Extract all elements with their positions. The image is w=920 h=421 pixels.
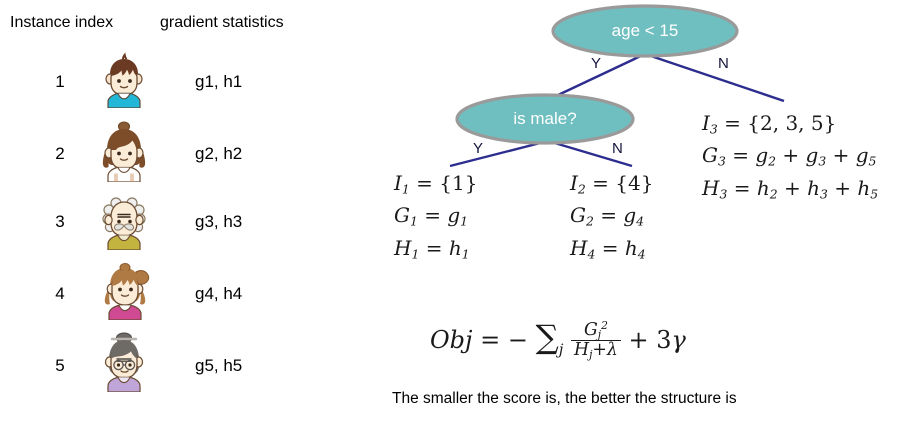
slide-canvas: Instance index gradient statistics 1 g1,… — [0, 0, 920, 421]
leaf-1-line-3: H1 = h1 — [394, 235, 477, 267]
leaf-2-line-1: I2 = {4} — [570, 170, 653, 202]
root-node-age-label: age < 15 — [555, 21, 735, 41]
edge-label-root-no: N — [718, 55, 729, 72]
leaf-3-formulas: I3 = {2, 3, 5} G3 = g2 + g3 + g5 H3 = h2… — [702, 110, 878, 207]
table-row: 4 g4, h4 — [0, 258, 330, 322]
leaf-1-line-2: G1 = g1 — [394, 202, 477, 234]
table-row: 5 g5, h5 — [0, 330, 330, 394]
table-row: 3 g3, h3 — [0, 190, 330, 252]
leaf-1-formulas: I1 = {1} G1 = g1 H1 = h1 — [394, 170, 477, 267]
column-header-instance-index: Instance index — [10, 14, 113, 32]
leaf-3-line-1: I3 = {2, 3, 5} — [702, 110, 878, 142]
caption-text: The smaller the score is, the better the… — [392, 390, 737, 408]
edge-label-child-no: N — [612, 140, 623, 157]
objective-plus: + — [628, 326, 656, 354]
table-row: 1 g1, h1 — [0, 50, 330, 112]
summation-icon: ∑ — [536, 318, 559, 356]
row-gradient-3: g3, h3 — [195, 212, 315, 232]
objective-equals: = — [480, 326, 508, 354]
edge-child-yes — [450, 141, 548, 166]
leaf-2-line-3: H4 = h4 — [570, 235, 653, 267]
old-woman-glasses-avatar — [96, 330, 152, 388]
row-gradient-2: g2, h2 — [195, 144, 315, 164]
row-index-1: 1 — [40, 72, 80, 92]
boy-teal-shirt-avatar — [96, 50, 152, 108]
leaf-2-formulas: I2 = {4} G2 = g4 H4 = h4 — [570, 170, 653, 267]
fraction-numerator: Gj2 — [571, 320, 621, 340]
objective-tail: 3γ — [656, 326, 686, 354]
objective-fraction: Gj2 Hj+λ — [571, 320, 621, 361]
row-index-3: 3 — [40, 212, 80, 232]
old-man-mustache-avatar — [96, 190, 152, 248]
edge-root-no — [645, 54, 784, 101]
edge-label-child-yes: Y — [473, 140, 483, 157]
leaf-3-line-2: G3 = g2 + g3 + g5 — [702, 142, 878, 174]
node-is-male-label: is male? — [457, 109, 633, 129]
objective-minus: − — [508, 326, 528, 354]
row-gradient-5: g5, h5 — [195, 356, 315, 376]
girl-ponytail-pink-avatar — [96, 258, 152, 316]
leaf-3-line-3: H3 = h2 + h3 + h5 — [702, 175, 878, 207]
leaf-1-line-1: I1 = {1} — [394, 170, 477, 202]
objective-lhs: Obj — [430, 326, 472, 354]
objective-formula: Obj = − ∑j Gj2 Hj+λ + 3γ — [430, 318, 686, 362]
edge-label-root-yes: Y — [591, 55, 601, 72]
row-index-5: 5 — [40, 356, 80, 376]
leaf-2-line-2: G2 = g4 — [570, 202, 653, 234]
row-gradient-1: g1, h1 — [195, 72, 315, 92]
girl-brown-hair-avatar — [96, 120, 152, 178]
row-index-4: 4 — [40, 284, 80, 304]
row-gradient-4: g4, h4 — [195, 284, 315, 304]
table-row: 2 g2, h2 — [0, 120, 330, 184]
fraction-denominator: Hj+λ — [571, 340, 621, 361]
row-index-2: 2 — [40, 144, 80, 164]
column-header-gradient-statistics: gradient statistics — [160, 14, 284, 32]
